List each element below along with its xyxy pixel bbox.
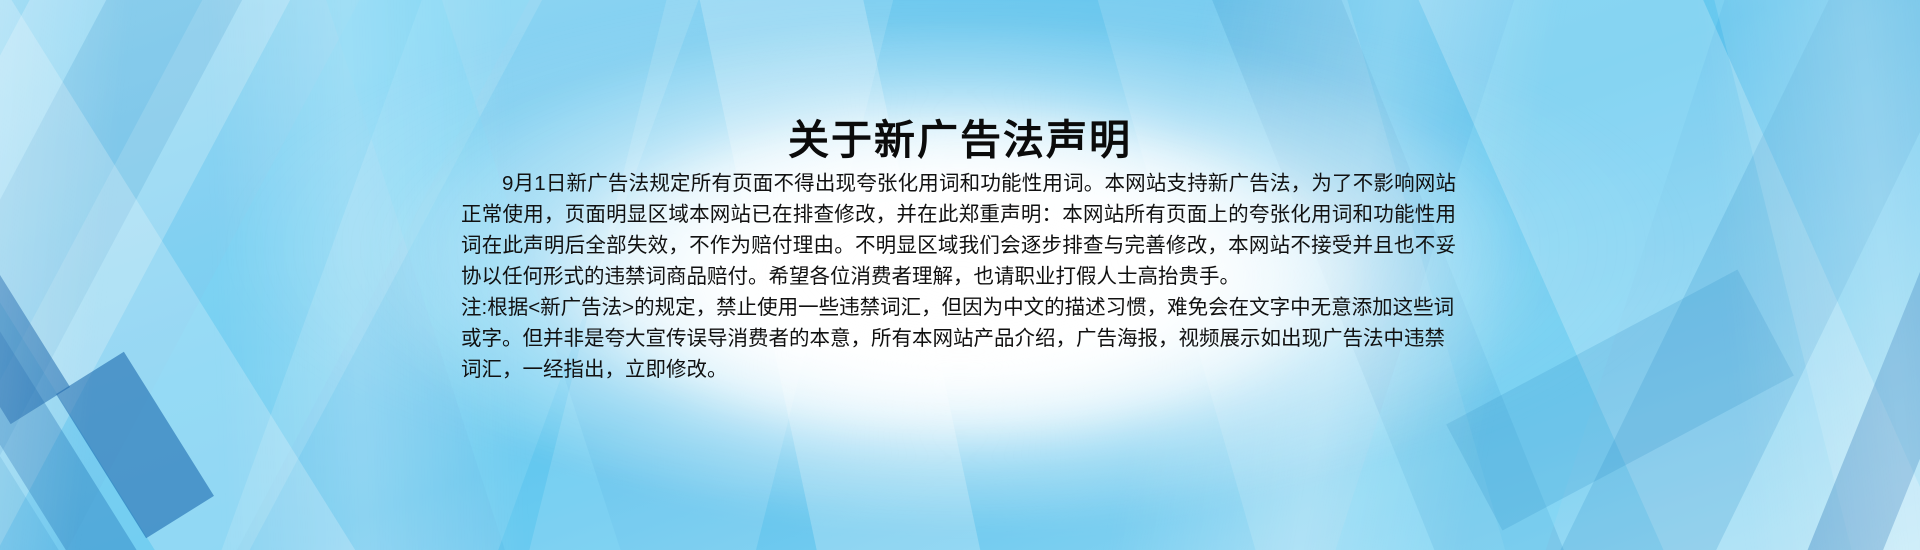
statement-paragraph-1: 9月1日新广告法规定所有页面不得出现夸张化用词和功能性用词。本网站支持新广告法，…: [461, 168, 1456, 292]
statement-content: 关于新广告法声明 9月1日新广告法规定所有页面不得出现夸张化用词和功能性用词。本…: [460, 0, 1460, 550]
statement-paragraph-2: 注:根据<新广告法>的规定，禁止使用一些违禁词汇，但因为中文的描述习惯，难免会在…: [461, 292, 1456, 385]
statement-body: 9月1日新广告法规定所有页面不得出现夸张化用词和功能性用词。本网站支持新广告法，…: [461, 168, 1456, 385]
page-title: 关于新广告法声明: [460, 115, 1460, 166]
advertising-law-statement-banner: 关于新广告法声明 9月1日新广告法规定所有页面不得出现夸张化用词和功能性用词。本…: [0, 0, 1920, 550]
